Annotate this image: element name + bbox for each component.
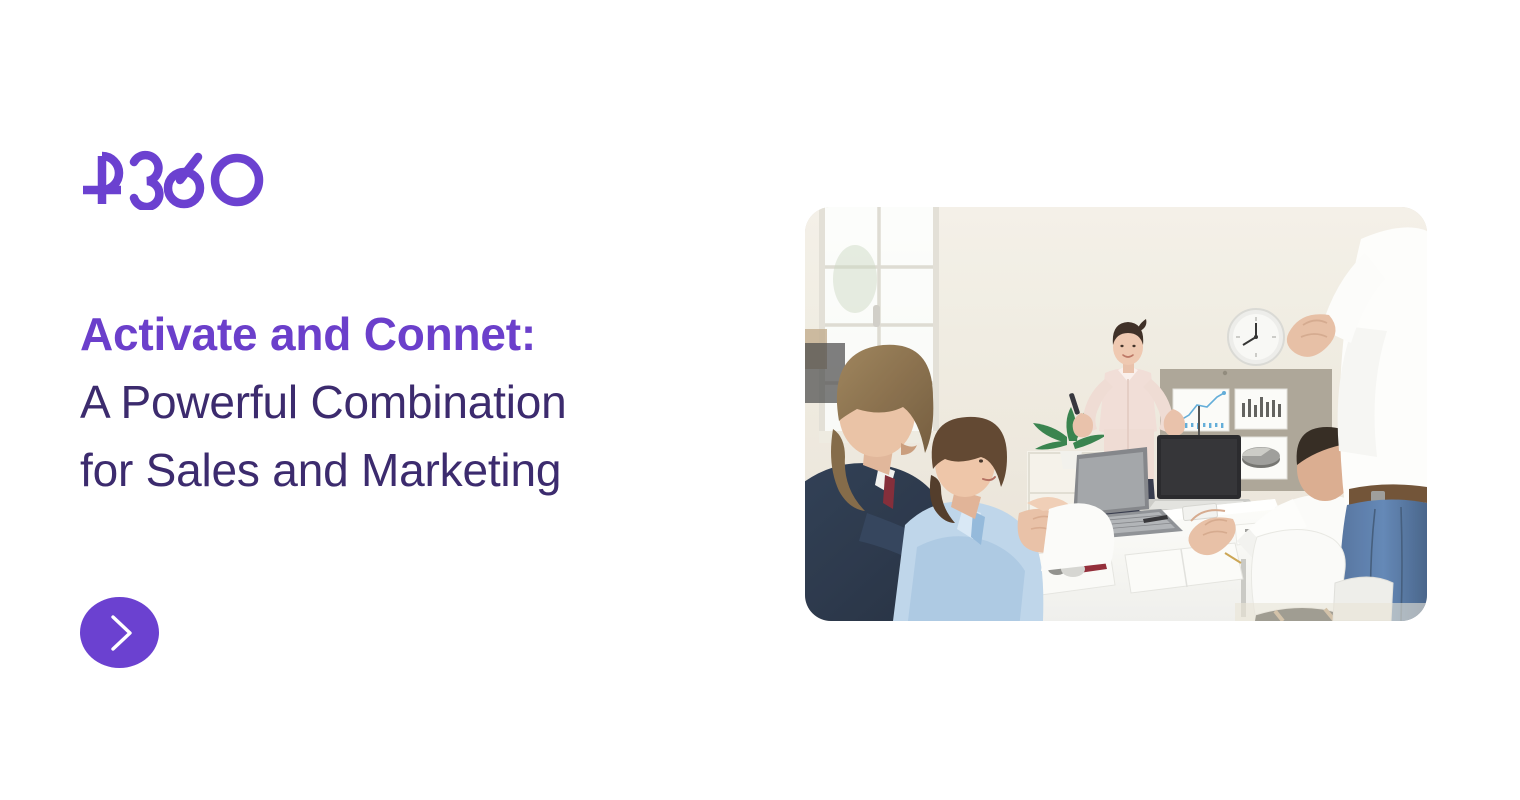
left-content-column: P360 Activate and Connet: A Powerful Com…: [80, 0, 720, 800]
next-button[interactable]: [80, 597, 159, 668]
headline-line-accent: Activate and Connet:: [80, 300, 700, 368]
hero-photo: [805, 207, 1427, 621]
p360-logo[interactable]: P360: [80, 148, 280, 210]
headline-line-three: for Sales and Marketing: [80, 436, 700, 504]
slide-canvas: P360 Activate and Connet: A Powerful Com…: [0, 0, 1520, 800]
headline-line-two: A Powerful Combination: [80, 368, 700, 436]
chevron-right-icon: [103, 611, 137, 655]
page-title: Activate and Connet: A Powerful Combinat…: [80, 300, 700, 504]
